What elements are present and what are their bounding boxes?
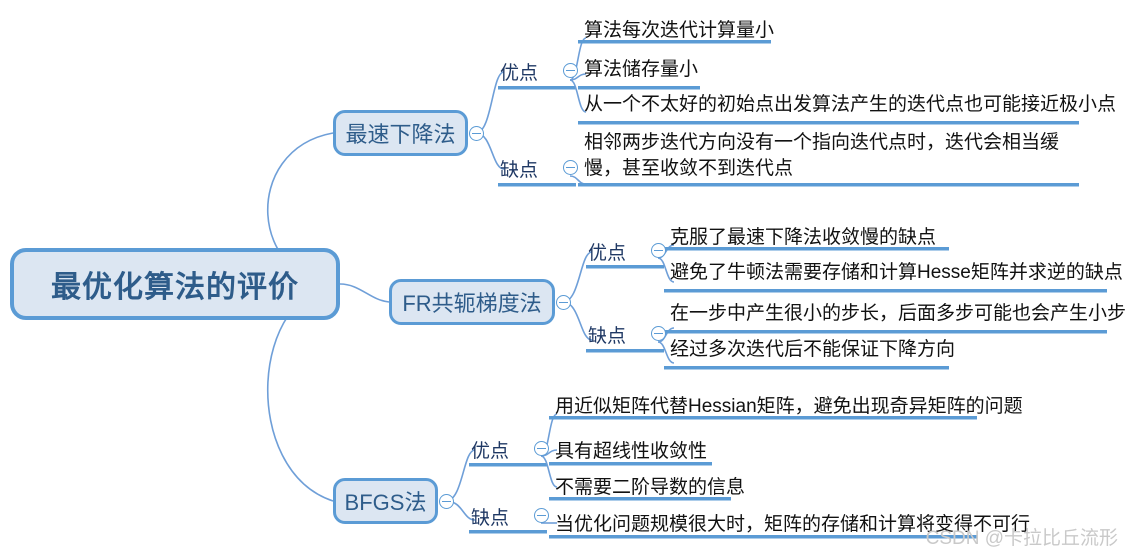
collapse-icon-group-2-disadvantages[interactable] xyxy=(651,326,666,341)
leaf-item[interactable]: 算法储存量小 xyxy=(584,57,698,83)
collapse-icon-branch-1[interactable] xyxy=(469,126,484,141)
group-label-advantages-1: 优点 xyxy=(500,58,538,85)
collapse-icon-group-3-advantages[interactable] xyxy=(534,441,549,456)
leaf-item[interactable]: 具有超线性收敛性 xyxy=(555,439,707,465)
leaf-item[interactable]: 在一步中产生很小的步长，后面多步可能也会产生小步长 xyxy=(670,301,1126,327)
leaf-item[interactable]: 经过多次迭代后不能保证下降方向 xyxy=(670,337,955,363)
branch-node-steepest-descent[interactable]: 最速下降法 xyxy=(333,110,468,156)
leaf-item[interactable]: 避免了牛顿法需要存储和计算Hesse矩阵并求逆的缺点 xyxy=(670,260,1123,286)
root-node-label: 最优化算法的评价 xyxy=(51,262,299,306)
leaf-item[interactable]: 算法每次迭代计算量小 xyxy=(584,18,774,44)
root-node[interactable]: 最优化算法的评价 xyxy=(10,248,340,320)
branch-node-label: 最速下降法 xyxy=(345,117,455,149)
leaf-item[interactable]: 用近似矩阵代替Hessian矩阵，避免出现奇异矩阵的问题 xyxy=(555,394,1023,420)
branch-node-fr-conjugate-gradient[interactable]: FR共轭梯度法 xyxy=(389,279,555,325)
leaf-item[interactable]: 相邻两步迭代方向没有一个指向迭代点时，迭代会相当缓慢，甚至收敛不到迭代点 xyxy=(584,130,1089,182)
group-label-disadvantages-1: 缺点 xyxy=(500,155,538,182)
group-label-disadvantages-2: 缺点 xyxy=(588,321,626,348)
leaf-item[interactable]: 不需要二阶导数的信息 xyxy=(555,475,745,501)
branch-node-label: BFGS法 xyxy=(345,485,427,517)
group-label-advantages-3: 优点 xyxy=(471,436,509,463)
leaf-item[interactable]: 克服了最速下降法收敛慢的缺点 xyxy=(670,225,936,251)
branch-node-label: FR共轭梯度法 xyxy=(402,286,541,318)
watermark: CSDN @卡拉比丘流形 xyxy=(926,523,1118,550)
branch-node-bfgs[interactable]: BFGS法 xyxy=(333,478,438,524)
group-label-advantages-2: 优点 xyxy=(588,238,626,265)
collapse-icon-group-3-disadvantages[interactable] xyxy=(534,508,549,523)
collapse-icon-branch-3[interactable] xyxy=(439,494,454,509)
collapse-icon-group-2-advantages[interactable] xyxy=(651,243,666,258)
collapse-icon-branch-2[interactable] xyxy=(556,295,571,310)
mindmap-canvas: 最优化算法的评价 最速下降法 优点 缺点 算法每次迭代计算量小 算法储存量小 从… xyxy=(0,0,1126,554)
collapse-icon-group-1-disadvantages[interactable] xyxy=(563,160,578,175)
collapse-icon-group-1-advantages[interactable] xyxy=(563,63,578,78)
group-label-disadvantages-3: 缺点 xyxy=(471,503,509,530)
leaf-item[interactable]: 从一个不太好的初始点出发算法产生的迭代点也可能接近极小点 xyxy=(584,92,1116,118)
